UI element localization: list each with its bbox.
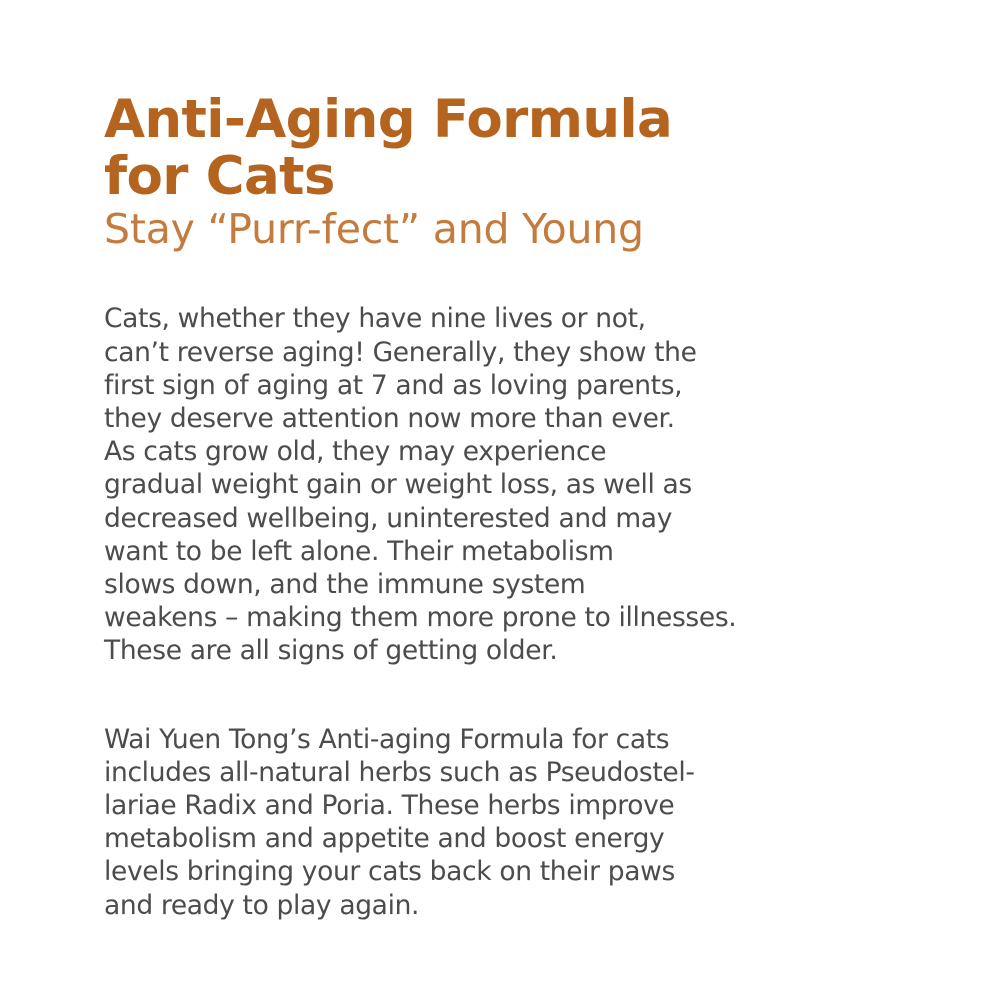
page-subtitle: Stay “Purr-fect” and Young: [104, 205, 884, 253]
body-paragraph-2: Wai Yuen Tong’s Anti-aging Formula for c…: [104, 723, 884, 922]
content-column: Anti-Aging Formula for Cats Stay “Purr-f…: [104, 92, 884, 922]
product-info-page: Anti-Aging Formula for Cats Stay “Purr-f…: [0, 0, 1000, 1000]
body-paragraph-1: Cats, whether they have nine lives or no…: [104, 302, 884, 667]
title-block: Anti-Aging Formula for Cats Stay “Purr-f…: [104, 92, 884, 253]
page-title: Anti-Aging Formula for Cats: [104, 92, 884, 205]
body-block: Cats, whether they have nine lives or no…: [104, 302, 884, 921]
